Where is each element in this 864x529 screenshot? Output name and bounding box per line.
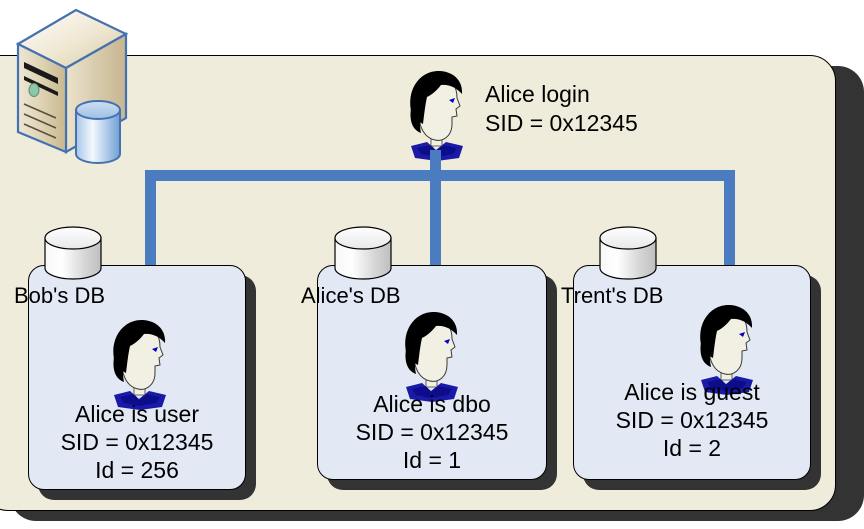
database-cylinder-icon-3 [595,224,661,282]
server-tower-icon [4,6,128,166]
alice-login-caption: Alice login SID = 0x12345 [485,80,638,138]
database-cylinder-icon-1 [40,224,106,282]
db-box-2-label: Alice's DB [301,283,401,309]
database-cylinder-icon-2 [330,224,396,282]
db-box-2-line-2: Id = 1 [317,446,547,474]
db-box-1-label: Bob's DB [14,283,105,309]
db-box-3-line-2: Id = 2 [573,434,811,462]
db-box-2-line-0: Alice is dbo [317,390,547,418]
diagram-canvas: Alice login SID = 0x12345 [0,0,864,529]
db-box-1-line-1: SID = 0x12345 [28,428,246,456]
db-box-3-line-1: SID = 0x12345 [573,406,811,434]
db-box-3-label: Trent's DB [561,283,663,309]
db-box-2-caption: Alice is dbo SID = 0x12345 Id = 1 [317,390,547,474]
db-box-1-line-2: Id = 256 [28,456,246,484]
db-box-3-line-0: Alice is guest [573,378,811,406]
alice-login-line-0: Alice login [485,80,638,109]
db-box-2-line-1: SID = 0x12345 [317,418,547,446]
db-box-1-line-0: Alice is user [28,400,246,428]
person-icon-db-1 [100,315,178,413]
db-box-3-caption: Alice is guest SID = 0x12345 Id = 2 [573,378,811,462]
alice-login-line-1: SID = 0x12345 [485,109,638,138]
db-box-1-caption: Alice is user SID = 0x12345 Id = 256 [28,400,246,484]
